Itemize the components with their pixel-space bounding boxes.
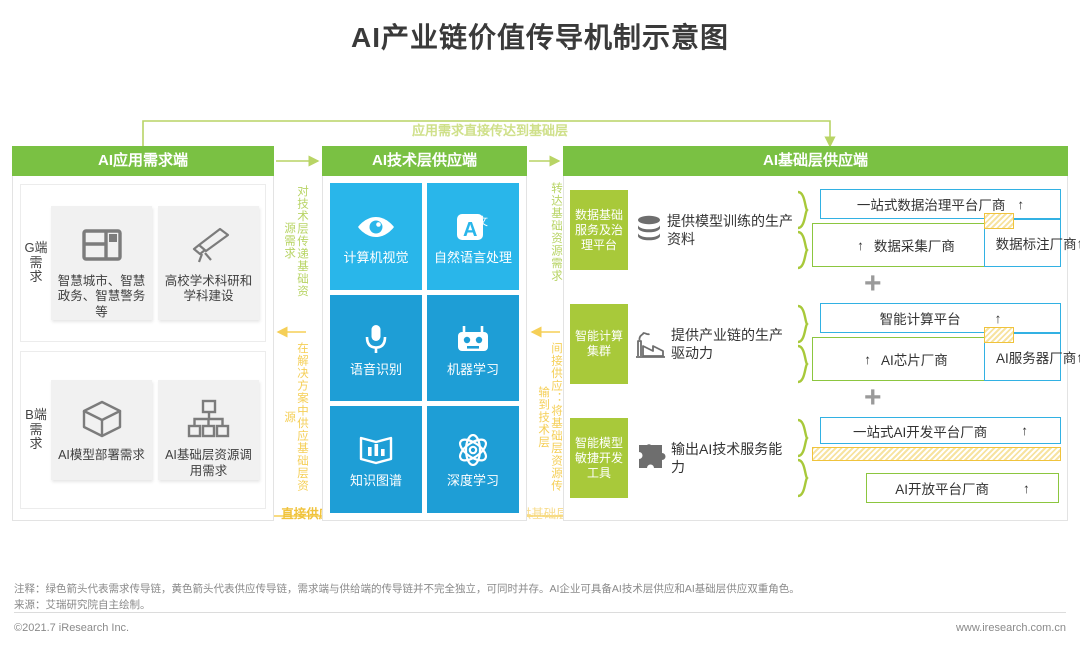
- infra-tag-data: 数据基础服务及治理平台: [570, 190, 628, 270]
- demand-card-model-deploy[interactable]: AI模型部署需求: [51, 380, 152, 479]
- tech-cell-machine-learning[interactable]: 机器学习: [427, 295, 519, 402]
- svg-text:A: A: [463, 219, 477, 241]
- factory-icon: [634, 328, 668, 360]
- telescope-icon: [186, 220, 232, 270]
- infra-box-ai-open-platform[interactable]: AI开放平台厂商↑: [866, 473, 1059, 503]
- overlap-hatch-marker-devtools: [812, 447, 1061, 461]
- infra-separator-plus-2: +: [864, 383, 882, 413]
- infrastructure-panel-header: AI基础层供应端: [563, 146, 1068, 176]
- connector-app-to-tech-demand: 对技术层传递基础资源需求: [282, 182, 308, 300]
- infra-row-data: 数据基础服务及治理平台 提供模型训练的生产资料 一站式数据治理平台厂商↑ ↑数据…: [570, 184, 1061, 276]
- demand-card-resource-call[interactable]: AI基础层资源调用需求: [158, 380, 259, 479]
- infra-box-compute-platform-label: 智能计算平台: [880, 308, 961, 328]
- knowledge-map-icon: [358, 430, 394, 470]
- translate-icon: A文: [454, 207, 492, 247]
- infra-boxes-data: 一站式数据治理平台厂商↑ ↑数据采集厂商 数据标注厂商↑: [812, 189, 1061, 271]
- application-panel-header: AI应用需求端: [12, 146, 274, 176]
- technology-panel-body: 计算机视觉 A文 自然语言处理 语音识别: [322, 176, 527, 521]
- connector-tech-to-infra-demand: 转达基础资源需求: [536, 182, 562, 282]
- demand-card-smart-city[interactable]: 智慧城市、智慧政务、智慧警务等: [51, 206, 152, 321]
- infrastructure-panel-body: 数据基础服务及治理平台 提供模型训练的生产资料 一站式数据治理平台厂商↑ ↑数据…: [563, 176, 1068, 521]
- tech-cell-nlp[interactable]: A文 自然语言处理: [427, 183, 519, 290]
- up-arrow-icon: ↑: [1076, 350, 1080, 365]
- up-arrow-icon: ↑: [1077, 236, 1080, 251]
- website-text: www.iresearch.com.cn: [956, 622, 1066, 634]
- infra-box-data-labeling-label: 数据标注厂商: [996, 233, 1077, 253]
- infra-desc-devtools: 输出AI技术服务能力: [671, 440, 796, 476]
- brace-icon-compute: [796, 304, 812, 384]
- infrastructure-supply-panel: AI基础层供应端 数据基础服务及治理平台 提供模型训练的生产资料 一站式数据治理…: [563, 146, 1068, 521]
- overlap-hatch-marker-compute: [984, 327, 1014, 343]
- connector-infra-to-tech-supply: 间接供应：将基础层资源传输到技术层: [536, 342, 562, 492]
- page-title: AI产业链价值传导机制示意图: [0, 16, 1080, 56]
- demand-group-b-label: B端需求: [21, 408, 51, 453]
- puzzle-icon: [634, 442, 668, 474]
- infra-desc-data: 提供模型训练的生产资料: [667, 212, 796, 248]
- brace-icon-data: [796, 190, 812, 270]
- demand-group-g: G端需求 智慧城市、智慧政务、智慧警务等 高校学术科研和学科建设: [20, 184, 266, 342]
- infra-tag-compute: 智能计算集群: [570, 304, 628, 384]
- infra-tag-devtools: 智能模型敏捷开发工具: [570, 418, 628, 498]
- demand-group-b: B端需求 AI模型部署需求 AI基础层资源调用需求: [20, 351, 266, 509]
- infra-box-ai-chip[interactable]: ↑AI芯片厂商: [812, 337, 1000, 381]
- tech-cell-computer-vision[interactable]: 计算机视觉: [330, 183, 422, 290]
- application-panel-body: G端需求 智慧城市、智慧政务、智慧警务等 高校学术科研和学科建设: [12, 176, 274, 521]
- infra-box-data-governance[interactable]: 一站式数据治理平台厂商↑: [820, 189, 1061, 219]
- footnote-line-1: 注释：绿色箭头代表需求传导链，黄色箭头代表供应传导链，需求端与供给端的传导链并不…: [14, 582, 1070, 598]
- up-arrow-icon: ↑: [864, 352, 871, 367]
- tech-cell-computer-vision-label: 计算机视觉: [343, 250, 408, 266]
- infra-box-data-collection[interactable]: ↑数据采集厂商: [812, 223, 1000, 267]
- tech-cell-speech[interactable]: 语音识别: [330, 295, 422, 402]
- dashboard-icon: [80, 220, 124, 270]
- infra-box-ai-server-label: AI服务器厂商: [996, 347, 1076, 367]
- demand-card-academic[interactable]: 高校学术科研和学科建设: [158, 206, 259, 321]
- infra-row-compute: 智能计算集群 提供产业链的生产驱动力 智能计算平台↑ ↑AI芯片厂商: [570, 298, 1061, 390]
- tech-cell-machine-learning-label: 机器学习: [447, 362, 499, 378]
- demand-card-academic-label: 高校学术科研和学科建设: [158, 274, 259, 305]
- up-arrow-icon: ↑: [1017, 197, 1024, 212]
- tech-cell-knowledge-graph-label: 知识图谱: [350, 473, 402, 489]
- tech-cell-speech-label: 语音识别: [350, 362, 402, 378]
- eye-icon: [356, 207, 396, 247]
- connector-tech-to-app-supply: 在解决方案中供应基础层资源: [282, 342, 308, 492]
- infra-box-ai-chip-label: AI芯片厂商: [881, 349, 948, 369]
- infra-box-ai-dev-platform[interactable]: 一站式AI开发平台厂商↑: [820, 417, 1061, 444]
- database-icon: [634, 213, 664, 247]
- brace-icon-devtools: [796, 418, 812, 498]
- technology-supply-panel: AI技术层供应端 计算机视觉 A文 自然语言处理: [322, 146, 527, 521]
- infra-box-ai-dev-platform-label: 一站式AI开发平台厂商: [853, 421, 987, 441]
- up-arrow-icon: ↑: [1021, 423, 1028, 438]
- tech-cell-nlp-label: 自然语言处理: [434, 250, 512, 266]
- footnote: 注释：绿色箭头代表需求传导链，黄色箭头代表供应传导链，需求端与供给端的传导链并不…: [14, 582, 1070, 614]
- application-demand-panel: AI应用需求端 G端需求 智慧城市、智慧政务、智慧警务等 高校: [12, 146, 274, 521]
- robot-icon: [455, 319, 491, 359]
- atom-icon: [455, 430, 491, 470]
- hierarchy-icon: [186, 394, 232, 444]
- up-arrow-icon: ↑: [1023, 481, 1030, 496]
- overlap-hatch-marker-data: [984, 213, 1014, 229]
- demand-card-resource-call-label: AI基础层资源调用需求: [158, 448, 259, 479]
- infra-separator-plus-1: +: [864, 269, 882, 299]
- tech-cell-knowledge-graph[interactable]: 知识图谱: [330, 406, 422, 513]
- microphone-icon: [362, 319, 390, 359]
- copyright-text: ©2021.7 iResearch Inc.: [14, 622, 129, 634]
- up-arrow-icon: ↑: [995, 311, 1002, 326]
- infra-desc-compute: 提供产业链的生产驱动力: [671, 326, 796, 362]
- diagram-root: AI产业链价值传导机制示意图 应用需求直接传达到基础层 直接供应：不经过中游技术…: [0, 0, 1080, 651]
- tech-cell-deep-learning-label: 深度学习: [447, 473, 499, 489]
- banner-top-label: 应用需求直接传达到基础层: [280, 120, 700, 139]
- infra-box-data-governance-label: 一站式数据治理平台厂商: [857, 194, 1006, 214]
- up-arrow-icon: ↑: [857, 238, 864, 253]
- tech-cell-deep-learning[interactable]: 深度学习: [427, 406, 519, 513]
- footer-divider: [14, 612, 1066, 613]
- infra-boxes-compute: 智能计算平台↑ ↑AI芯片厂商 AI服务器厂商↑: [812, 303, 1061, 385]
- demand-card-smart-city-label: 智慧城市、智慧政务、智慧警务等: [51, 274, 152, 321]
- infra-box-ai-open-platform-label: AI开放平台厂商: [895, 478, 989, 498]
- cube-icon: [79, 394, 125, 444]
- demand-card-model-deploy-label: AI模型部署需求: [56, 448, 147, 464]
- svg-text:文: 文: [477, 214, 488, 228]
- infra-box-compute-platform[interactable]: 智能计算平台↑: [820, 303, 1061, 333]
- demand-group-g-label: G端需求: [21, 241, 51, 286]
- technology-panel-header: AI技术层供应端: [322, 146, 527, 176]
- infra-box-data-collection-label: 数据采集厂商: [874, 235, 955, 255]
